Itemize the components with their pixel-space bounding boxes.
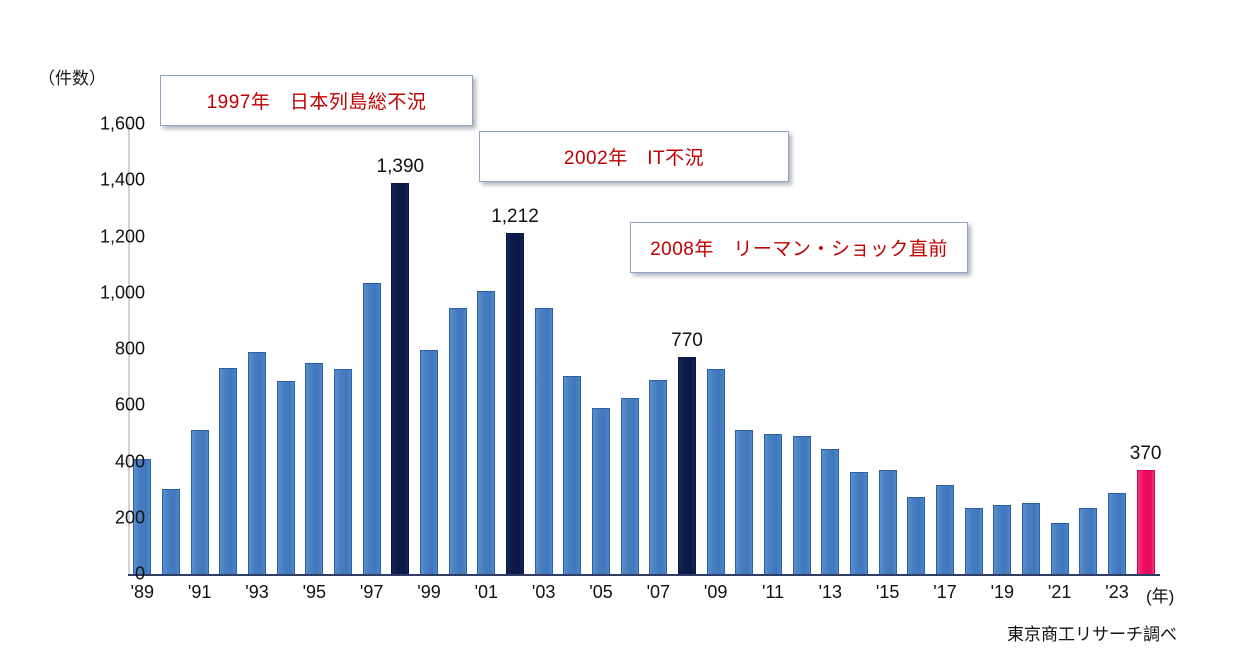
bar-09 [707,369,725,574]
annotation-callout-2002: 2002年 IT不況 [479,131,789,182]
bar-20 [1022,503,1040,574]
bar-slot [219,124,237,574]
bar-14 [850,472,868,574]
bar-03 [535,308,553,574]
x-tick-label: '97 [360,582,383,603]
x-tick-label: '07 [647,582,670,603]
bar-93 [248,352,266,574]
bar-slot [420,124,438,574]
bar-slot [535,124,553,574]
bar-slot [592,124,610,574]
bar-23 [1108,493,1126,574]
y-tick-label: 1,000 [73,282,145,303]
x-tick-label: '15 [876,582,899,603]
bar-slot [707,124,725,574]
bar-slot [1079,124,1097,574]
bar-value-label: 770 [671,330,703,352]
bar-value-label: 1,212 [491,206,539,228]
bar-slot [936,124,954,574]
bar-slot [735,124,753,574]
x-axis-line [128,574,1160,576]
bar-98: 1,390 [391,183,409,574]
bar-slot: 1,390 [391,124,409,574]
x-tick-label: '23 [1105,582,1128,603]
x-tick-label: '19 [991,582,1014,603]
bar-15 [879,470,897,574]
bar-00 [449,308,467,574]
bar-slot [965,124,983,574]
bar-slot [907,124,925,574]
bar-slot [334,124,352,574]
annotation-text: 2008年 リーマン・ショック直前 [650,234,948,261]
bar-07 [649,380,667,574]
bar-08: 770 [678,357,696,574]
bar-series: 1,3901,212770370 [128,124,1160,574]
y-tick-label: 400 [73,451,145,472]
bar-06 [621,398,639,574]
bar-12 [793,436,811,574]
x-tick-label: '89 [131,582,154,603]
bar-slot [191,124,209,574]
x-tick-label: '21 [1048,582,1071,603]
bar-slot [449,124,467,574]
x-tick-label: '17 [933,582,956,603]
bar-01 [477,291,495,574]
annotation-text: 2002年 IT不況 [564,143,704,170]
bar-slot [248,124,266,574]
bar-16 [907,497,925,574]
bar-19 [993,505,1011,574]
bar-24: 370 [1137,470,1155,574]
plot-area: 1,3901,212770370 [128,124,1160,574]
bar-value-label: 370 [1130,443,1162,465]
bar-21 [1051,523,1069,574]
x-tick-label: '99 [417,582,440,603]
annotation-text: 1997年 日本列島総不況 [207,87,427,114]
bar-slot [793,124,811,574]
y-tick-label: 600 [73,395,145,416]
y-tick-label: 200 [73,507,145,528]
bar-95 [305,363,323,575]
annotation-callout-1997: 1997年 日本列島総不況 [160,75,473,126]
bar-slot [477,124,495,574]
bar-slot [363,124,381,574]
bar-slot [850,124,868,574]
bar-96 [334,369,352,574]
annotation-callout-2008: 2008年 リーマン・ショック直前 [630,222,968,273]
bar-17 [936,485,954,574]
bar-22 [1079,508,1097,574]
source-credit: 東京商工リサーチ調べ [1007,620,1177,645]
bar-13 [821,449,839,574]
bar-10 [735,430,753,574]
y-axis-unit-label: （件数） [38,64,106,89]
bar-92 [219,368,237,574]
bar-02: 1,212 [506,233,524,574]
bar-90 [162,489,180,574]
bar-slot: 370 [1137,124,1155,574]
bar-99 [420,350,438,574]
bar-slot [621,124,639,574]
bar-slot [821,124,839,574]
bar-slot: 770 [678,124,696,574]
bar-slot [563,124,581,574]
bar-slot [305,124,323,574]
bar-11 [764,434,782,574]
y-tick-label: 1,200 [73,226,145,247]
bar-97 [363,283,381,574]
x-tick-label: '93 [245,582,268,603]
bar-slot [764,124,782,574]
x-tick-label: '13 [819,582,842,603]
x-tick-label: '05 [589,582,612,603]
x-tick-label: '01 [475,582,498,603]
bankruptcy-bar-chart: （件数） 1,3901,212770370 1,6001,4001,2001,0… [0,0,1240,663]
bar-94 [277,381,295,574]
bar-slot [162,124,180,574]
bar-slot [277,124,295,574]
bar-05 [592,408,610,575]
y-tick-label: 1,600 [73,114,145,135]
x-tick-label: '95 [303,582,326,603]
bar-slot [993,124,1011,574]
x-tick-label: '03 [532,582,555,603]
bar-slot [1051,124,1069,574]
bar-value-label: 1,390 [377,156,425,178]
x-axis-tick-labels: '89'91'93'95'97'99'01'03'05'07'09'11'13'… [128,582,1160,608]
bar-04 [563,376,581,574]
x-tick-label: '11 [762,582,784,603]
x-axis-unit-label: (年) [1146,582,1174,607]
bar-slot: 1,212 [506,124,524,574]
bar-slot [1022,124,1040,574]
bar-18 [965,508,983,574]
y-tick-label: 1,400 [73,170,145,191]
bar-slot [649,124,667,574]
x-tick-label: '09 [704,582,727,603]
bar-91 [191,430,209,574]
y-tick-label: 800 [73,339,145,360]
bar-slot [1108,124,1126,574]
x-tick-label: '91 [188,582,211,603]
bar-slot [879,124,897,574]
